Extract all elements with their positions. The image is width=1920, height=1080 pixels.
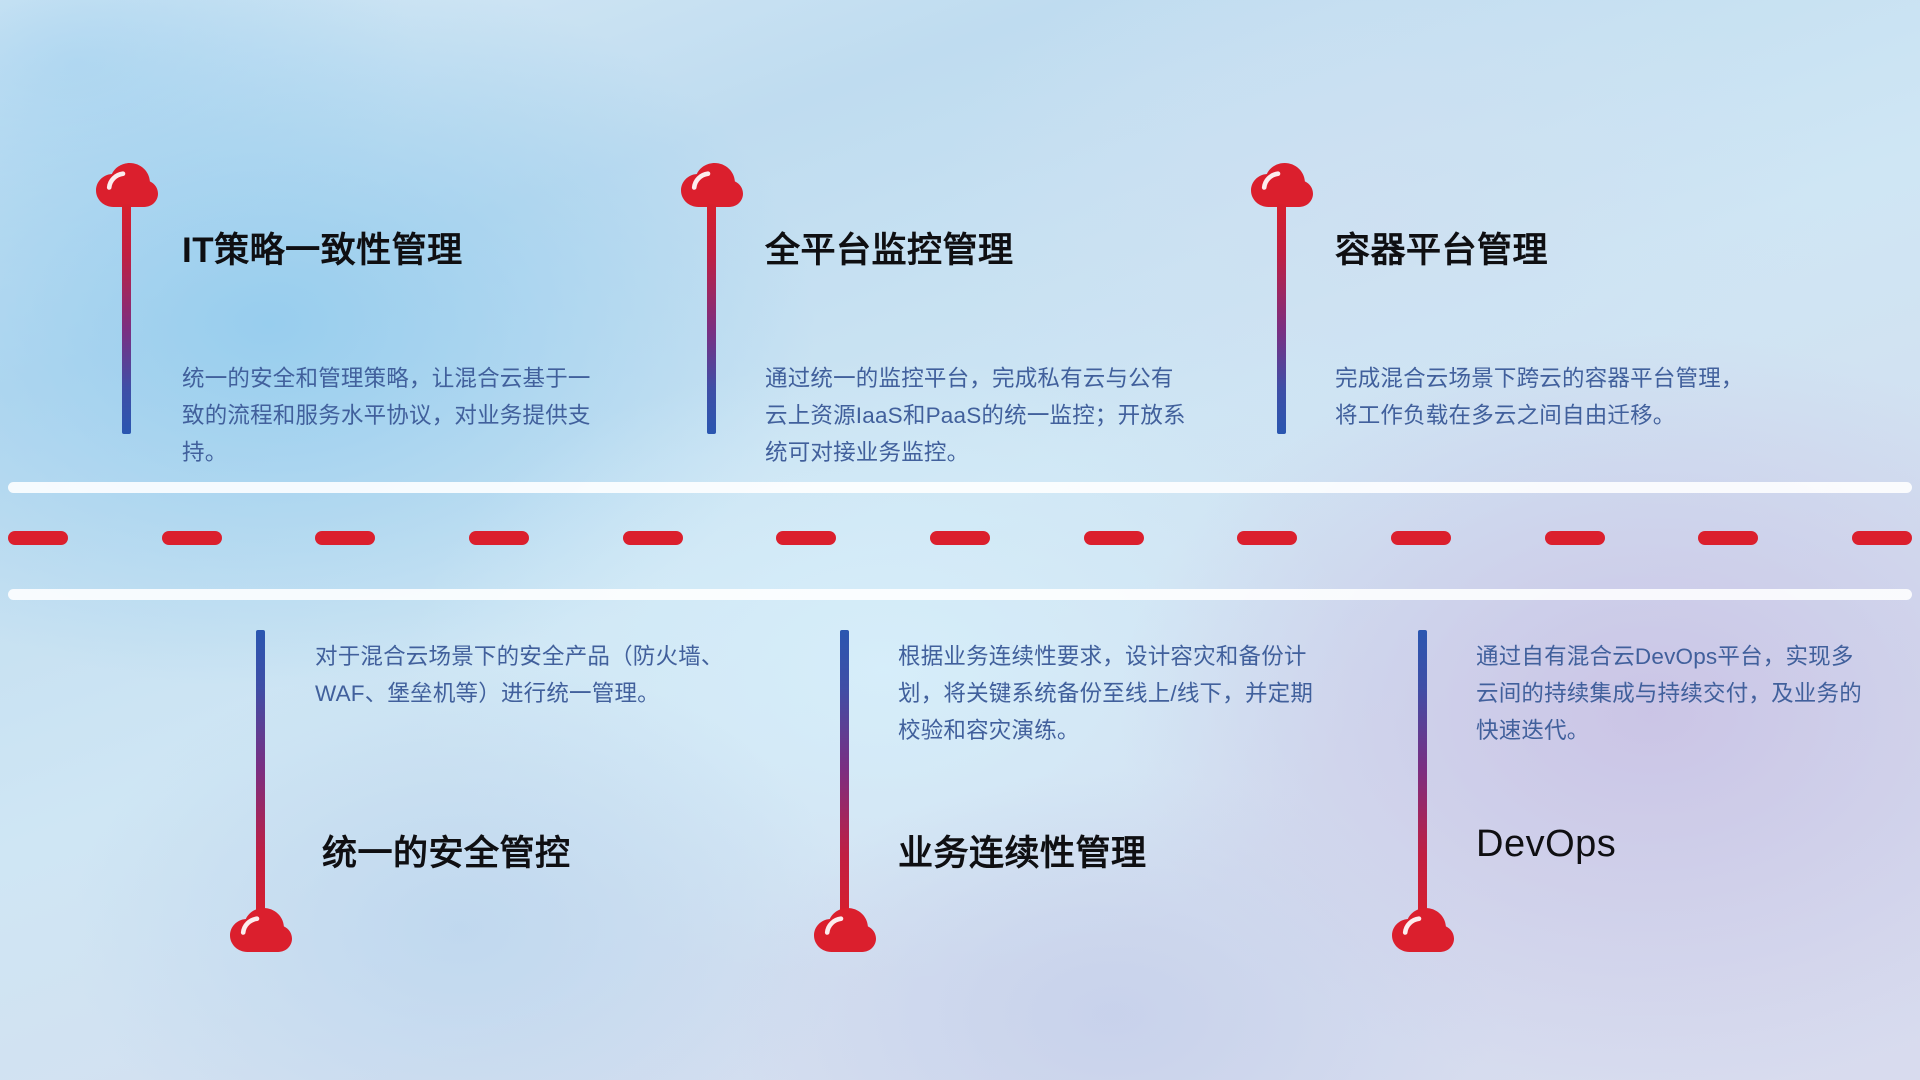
pin-top-1 (96, 163, 158, 208)
road-dash (315, 531, 375, 545)
body-business-continuity: 根据业务连续性要求，设计容灾和备份计划，将关键系统备份至线上/线下，并定期校验和… (898, 638, 1318, 749)
road-dash (469, 531, 529, 545)
pin-stem (707, 204, 716, 434)
heading-container-platform: 容器平台管理 (1335, 222, 1548, 273)
road-dash (162, 531, 222, 545)
cloud-icon-glyph (1251, 163, 1313, 208)
cloud-icon (1251, 163, 1313, 208)
heading-business-continuity: 业务连续性管理 (898, 825, 1147, 876)
heading-it-policy: IT策略一致性管理 (182, 222, 463, 273)
cloud-icon-glyph (1392, 908, 1454, 953)
road-line-bottom (8, 589, 1912, 600)
pin-top-2 (681, 163, 743, 208)
road-dash (1698, 531, 1758, 545)
cloud-icon-glyph (681, 163, 743, 208)
road-dash (1852, 531, 1912, 545)
road-dash (776, 531, 836, 545)
road-dash (1237, 531, 1297, 545)
pin-stem (1277, 204, 1286, 434)
heading-platform-monitor: 全平台监控管理 (765, 222, 1014, 273)
cloud-icon (1392, 908, 1454, 953)
pin-stem (840, 630, 849, 918)
body-security-control: 对于混合云场景下的安全产品（防火墙、WAF、堡垒机等）进行统一管理。 (315, 638, 735, 712)
pin-stem (1418, 630, 1427, 918)
road-dash-strip (8, 531, 1912, 545)
body-it-policy: 统一的安全和管理策略，让混合云基于一致的流程和服务水平协议，对业务提供支持。 (182, 360, 602, 471)
road-dash (930, 531, 990, 545)
pin-top-3 (1251, 163, 1313, 208)
cloud-icon (230, 908, 292, 953)
road-divider (0, 482, 1920, 600)
pin-stem (122, 204, 131, 434)
body-platform-monitor: 通过统一的监控平台，完成私有云与公有云上资源IaaS和PaaS的统一监控；开放系… (765, 360, 1195, 471)
cloud-icon-glyph (230, 908, 292, 953)
cloud-icon (96, 163, 158, 208)
cloud-icon-glyph (814, 908, 876, 953)
road-dash (1084, 531, 1144, 545)
heading-security-control: 统一的安全管控 (322, 825, 571, 876)
cloud-icon (814, 908, 876, 953)
cloud-icon (681, 163, 743, 208)
road-dash (1391, 531, 1451, 545)
road-dash (1545, 531, 1605, 545)
road-dash (623, 531, 683, 545)
heading-devops: DevOps (1476, 823, 1616, 866)
pin-stem (256, 630, 265, 918)
road-dash (8, 531, 68, 545)
infographic-canvas: IT策略一致性管理 统一的安全和管理策略，让混合云基于一致的流程和服务水平协议，… (0, 0, 1920, 1080)
body-devops: 通过自有混合云DevOps平台，实现多云间的持续集成与持续交付，及业务的快速迭代… (1476, 638, 1876, 749)
road-line-top (8, 482, 1912, 493)
body-container-platform: 完成混合云场景下跨云的容器平台管理，将工作负载在多云之间自由迁移。 (1335, 360, 1765, 434)
cloud-icon-glyph (96, 163, 158, 208)
